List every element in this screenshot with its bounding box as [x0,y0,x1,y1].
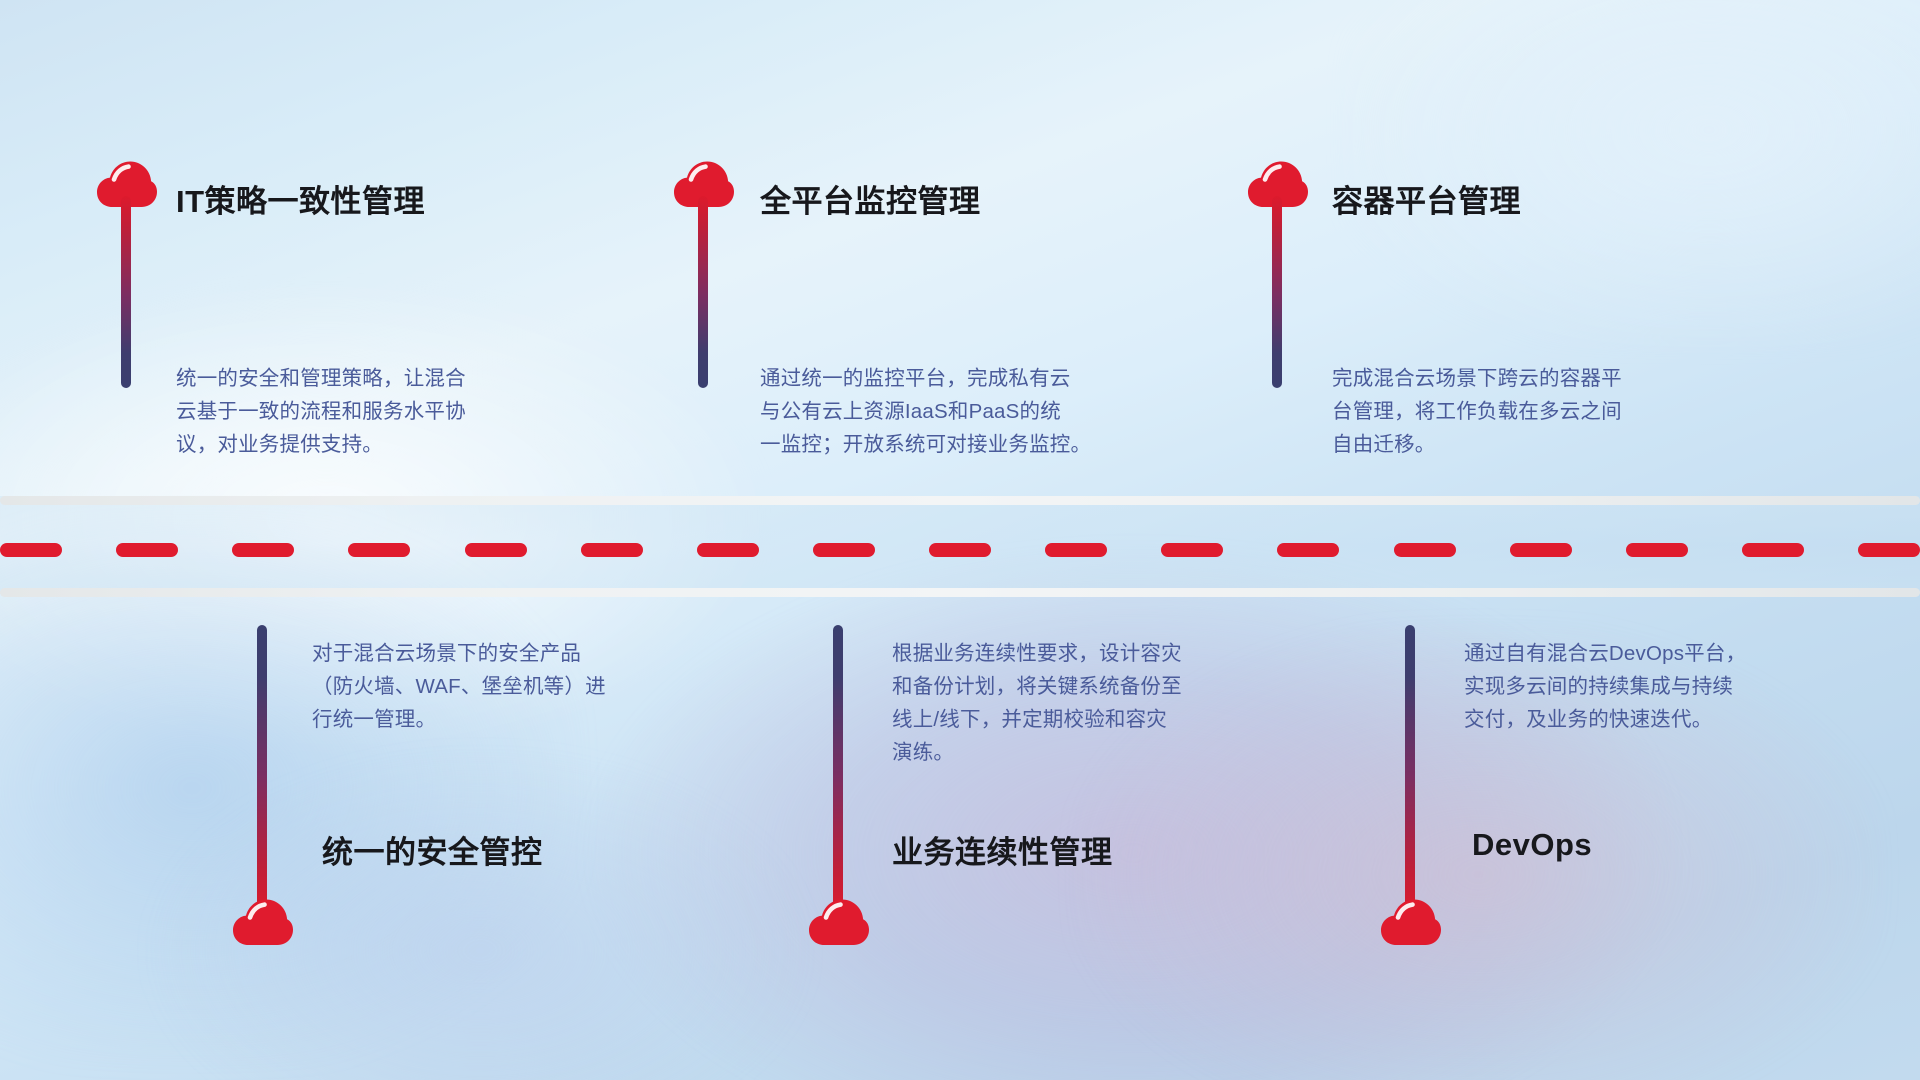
road-dash [1858,543,1920,557]
card-title: 全平台监控管理 [760,176,981,221]
cloud-icon [232,898,294,946]
road-dash [465,543,527,557]
card-title: 统一的安全管控 [322,827,543,872]
road-dash [813,543,875,557]
card-body: 完成混合云场景下跨云的容器平 台管理，将工作负载在多云之间 自由迁移。 [1332,362,1622,461]
road-dash [1161,543,1223,557]
stem-connector [698,196,708,388]
road-edge-line-bottom [0,588,1920,597]
road-dash [929,543,991,557]
road-dash [1394,543,1456,557]
stem-connector [833,625,843,915]
card-title: 业务连续性管理 [892,827,1113,872]
road-dash [232,543,294,557]
card-title: IT策略一致性管理 [176,176,425,221]
road-dash [1045,543,1107,557]
stem-connector [1272,196,1282,388]
road-dash [1277,543,1339,557]
card-body: 通过统一的监控平台，完成私有云 与公有云上资源IaaS和PaaS的统 一监控；开… [760,362,1091,461]
cloud-icon [808,898,870,946]
road-dash [348,543,410,557]
card-body: 根据业务连续性要求，设计容灾 和备份计划，将关键系统备份至 线上/线下，并定期校… [892,637,1182,769]
road-dash [581,543,643,557]
road-dash [1742,543,1804,557]
card-body: 对于混合云场景下的安全产品 （防火墙、WAF、堡垒机等）进 行统一管理。 [312,637,606,736]
road-dash [116,543,178,557]
stem-connector [121,196,131,388]
card-title: DevOps [1472,827,1592,863]
road-dash [1510,543,1572,557]
road-dash [0,543,62,557]
infographic-canvas: IT策略一致性管理 统一的安全和管理策略，让混合 云基于一致的流程和服务水平协 … [0,0,1920,1080]
stem-connector [257,625,267,915]
card-title: 容器平台管理 [1332,176,1521,221]
card-body: 通过自有混合云DevOps平台， 实现多云间的持续集成与持续 交付，及业务的快速… [1464,637,1746,736]
road-dash [1626,543,1688,557]
background-glow-top-right [1344,0,1920,346]
road-center-dashed-line [0,543,1920,557]
road-edge-line-top [0,496,1920,505]
card-body: 统一的安全和管理策略，让混合 云基于一致的流程和服务水平协 议，对业务提供支持。 [176,362,466,461]
stem-connector [1405,625,1415,915]
cloud-icon [1380,898,1442,946]
road-dash [697,543,759,557]
